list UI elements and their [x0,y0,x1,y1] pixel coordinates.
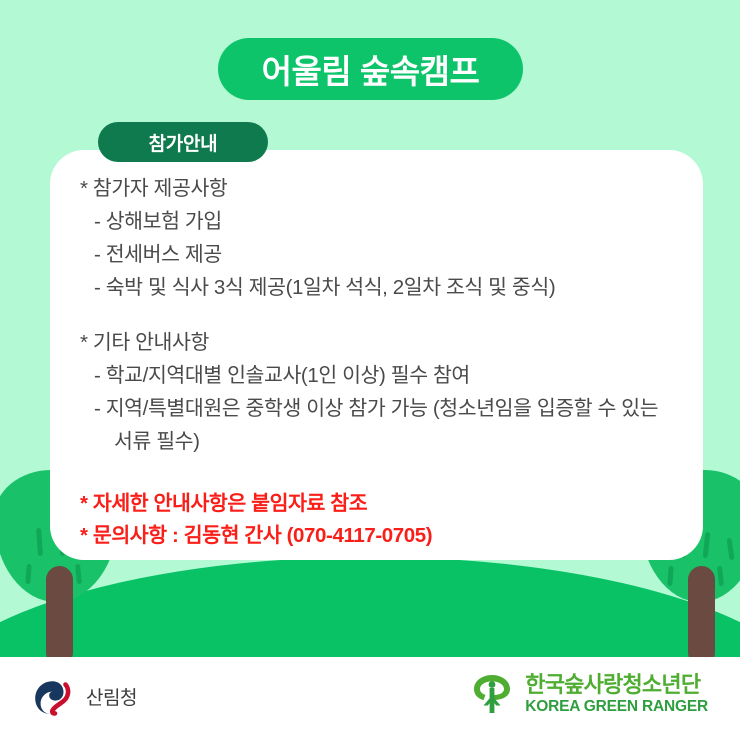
highlight-notes: * 자세한 안내사항은 붙임자료 참조 * 문의사항 : 김동현 간사 (070… [80,488,680,552]
tree-trunk [46,566,73,657]
section-participant-benefits: * 참가자 제공사항 - 상해보험 가입 - 전세버스 제공 - 숙박 및 식사… [80,172,680,304]
section-other-notices: * 기타 안내사항 - 학교/지역대별 인솔교사(1인 이상) 필수 참여 - … [80,326,680,458]
section-item: - 숙박 및 식사 3식 제공(1일차 석식, 2일차 조식 및 중식) [80,271,680,304]
section-item: - 지역/특별대원은 중학생 이상 참가 가능 (청소년임을 입증할 수 있는 … [80,392,680,458]
footer-bar: 산림청 한국숲사랑청소년단 KOREA GREEN RANGER [0,657,740,740]
poster-title: 어울림 숲속캠프 [262,45,480,93]
korea-green-ranger-logo: 한국숲사랑청소년단 KOREA GREEN RANGER [469,671,708,717]
ranger-name-english: KOREA GREEN RANGER [525,699,708,715]
card-body: * 참가자 제공사항 - 상해보험 가입 - 전세버스 제공 - 숙박 및 식사… [80,172,680,552]
ranger-wordmark: 한국숲사랑청소년단 KOREA GREEN RANGER [525,674,708,715]
section-tab-label: 참가안내 [149,129,218,156]
green-ranger-icon [469,671,515,717]
section-item: - 학교/지역대별 인솔교사(1인 이상) 필수 참여 [80,359,680,392]
section-heading: * 기타 안내사항 [80,326,680,359]
note-contact: * 문의사항 : 김동현 간사 (070-4117-0705) [80,520,680,552]
section-tab: 참가안내 [98,122,268,162]
korea-forest-service-name: 산림청 [86,683,137,710]
tree-trunk [688,566,715,657]
poster-canvas: 어울림 숲속캠프 참가안내 * 참가자 제공사항 - 상해보험 가입 - 전세버… [0,0,740,740]
korea-forest-service-logo: 산림청 [32,675,137,717]
ranger-name-korean: 한국숲사랑청소년단 [525,674,708,696]
taegeuk-icon [32,675,74,717]
section-heading: * 참가자 제공사항 [80,172,680,205]
note-attachment-reference: * 자세한 안내사항은 붙임자료 참조 [80,488,680,520]
section-item: - 전세버스 제공 [80,238,680,271]
poster-title-pill: 어울림 숲속캠프 [218,38,523,100]
section-item: - 상해보험 가입 [80,205,680,238]
